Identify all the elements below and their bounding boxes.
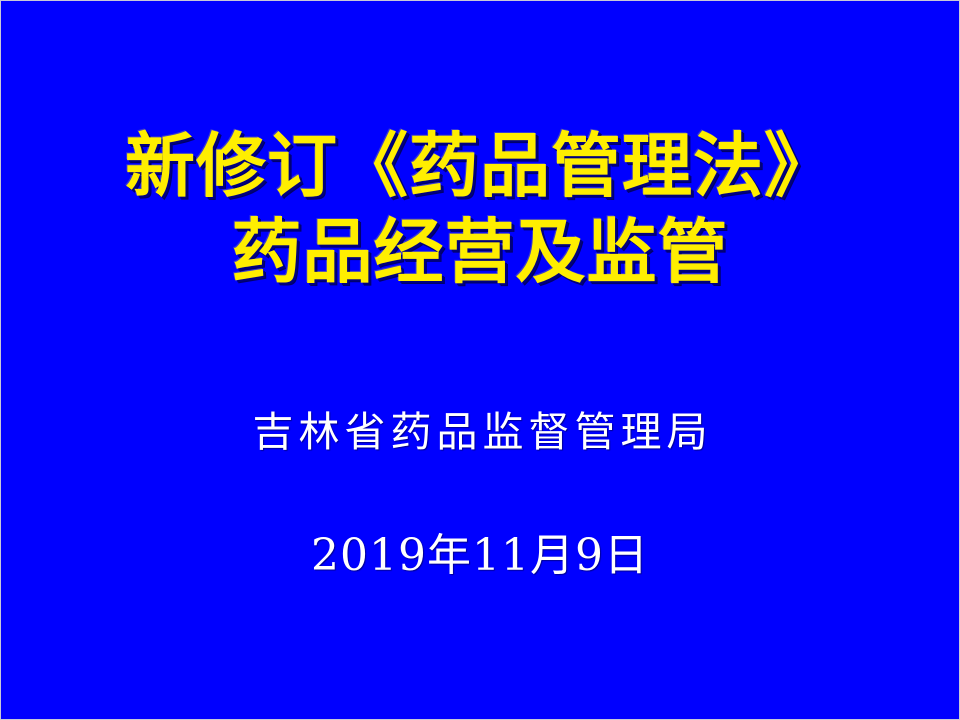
title-line-2: 药品经营及监管	[1, 209, 959, 295]
presentation-slide: 新修订《药品管理法》 药品经营及监管 吉林省药品监督管理局 2019年11月9日	[0, 0, 960, 720]
title-line-1: 新修订《药品管理法》	[1, 123, 959, 209]
organization-block: 吉林省药品监督管理局	[1, 405, 959, 459]
slide-title: 新修订《药品管理法》 药品经营及监管	[1, 123, 959, 295]
organization-name: 吉林省药品监督管理局	[1, 405, 959, 459]
date-block: 2019年11月9日	[1, 527, 959, 585]
presentation-date: 2019年11月9日	[1, 527, 959, 585]
